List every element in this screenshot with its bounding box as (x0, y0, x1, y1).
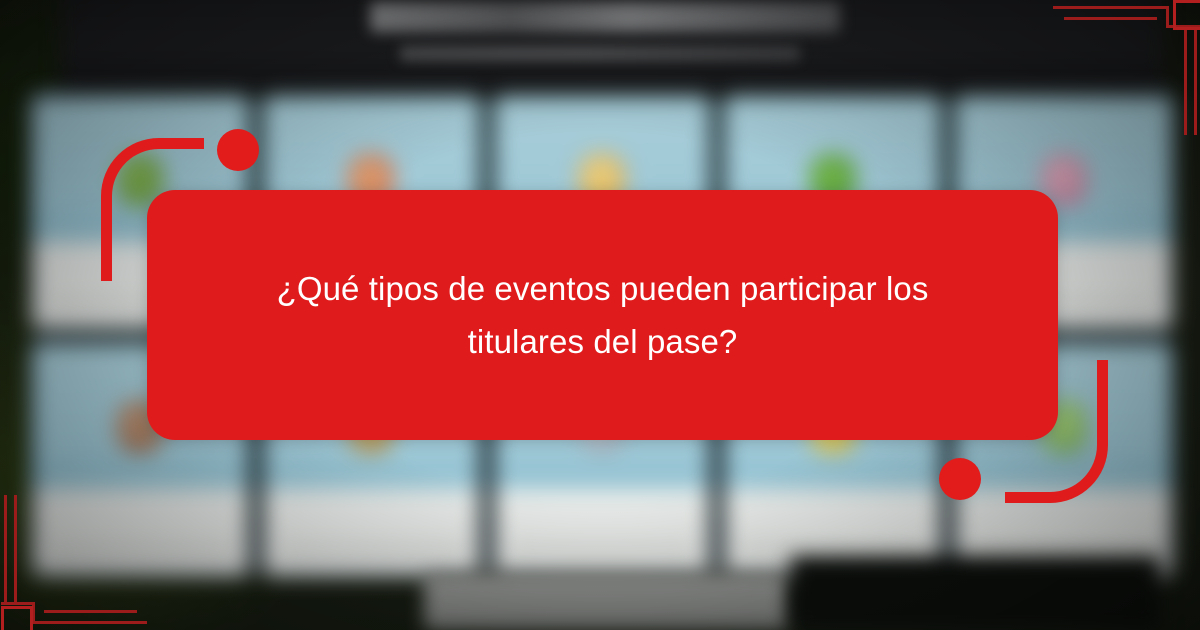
frame-line-top-right-inner (1064, 17, 1157, 20)
accent-dot-bottom-right (939, 458, 981, 500)
question-card: ¿Qué tipos de eventos pueden participar … (147, 190, 1058, 440)
background-card-caption (38, 540, 243, 566)
frame-line-left-vertical-outer (14, 495, 17, 602)
screenshot-canvas: ¿Qué tipos de eventos pueden participar … (0, 0, 1200, 630)
frame-line-right-vertical-inner (1194, 28, 1197, 135)
background-header-subtitle (400, 46, 800, 61)
background-card-caption (269, 540, 474, 566)
background-card-caption (500, 540, 705, 566)
question-text: ¿Qué tipos de eventos pueden participar … (223, 262, 983, 369)
frame-line-top-right-outer (1053, 6, 1168, 9)
background-footer-block (790, 556, 1160, 630)
frame-square-top-right (1173, 0, 1200, 30)
accent-dot-top-left (217, 129, 259, 171)
frame-line-left-vertical-inner (4, 495, 7, 602)
frame-square-bottom-left (1, 606, 33, 630)
background-header-title (370, 2, 840, 32)
frame-line-bottom-left-outer (32, 621, 147, 624)
background-action-bar (424, 572, 790, 630)
frame-line-left-corner (1, 602, 35, 605)
frame-line-right-vertical-outer (1184, 28, 1187, 135)
frame-line-bottom-left-inner (44, 610, 137, 613)
